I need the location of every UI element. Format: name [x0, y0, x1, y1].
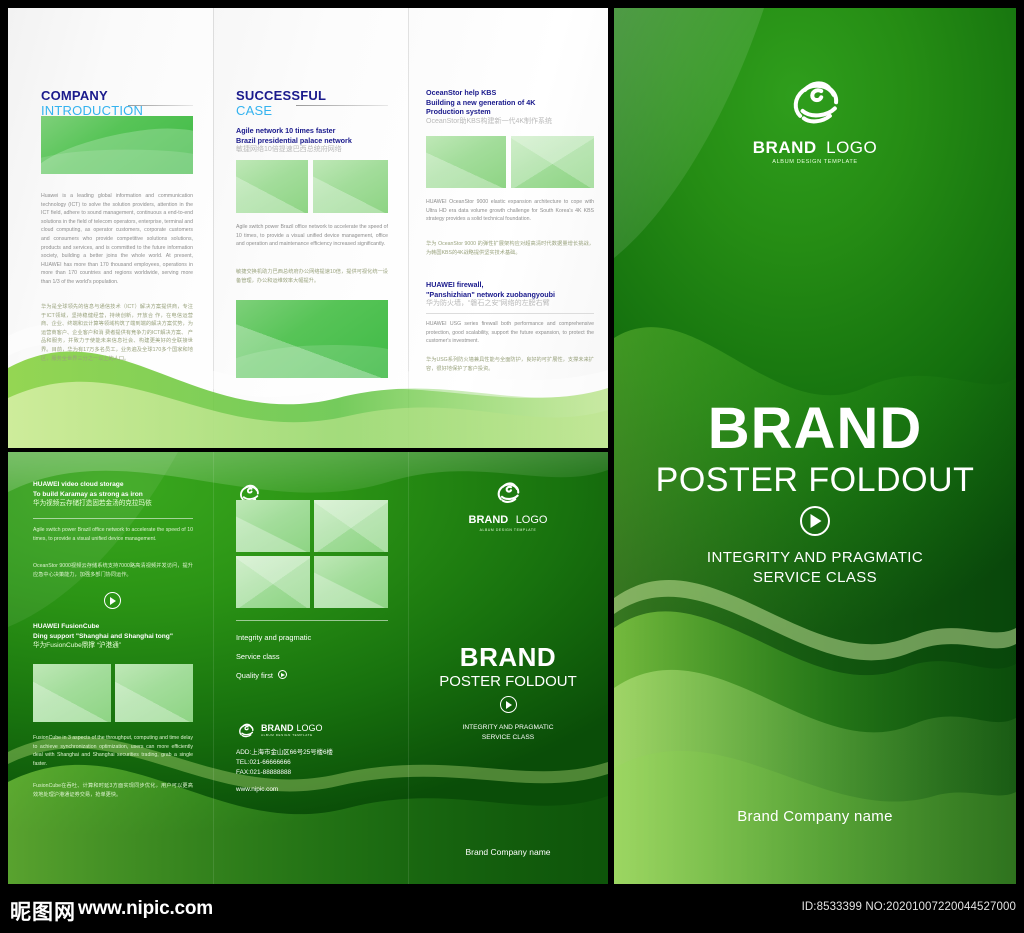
play-button-video-cloud[interactable]	[104, 592, 121, 614]
oceanstor-title-en-3: Production system	[426, 107, 596, 117]
fold-c-company-name: Brand Company name	[408, 847, 608, 857]
asset-id-code: ID:8533399 NO:20201007220044527000	[802, 901, 1016, 913]
values-divider	[236, 620, 388, 621]
header-rule	[296, 105, 388, 106]
fold-divider	[213, 452, 214, 884]
play-icon	[500, 696, 517, 713]
oceanstor-title-group: OceanStor help KBS Building a new genera…	[426, 88, 596, 127]
case-header: SUCCESSFUL CASE	[236, 88, 326, 118]
case-title-cn: 敏捷网络10倍提速巴西总统府网络	[236, 145, 388, 155]
oceanstor-title-en-1: OceanStor help KBS	[426, 88, 596, 98]
value-item-2: Service class	[236, 647, 311, 666]
fold-b-image-4	[314, 556, 388, 608]
company-header: COMPANY INTRODUCTION	[41, 88, 143, 118]
cover-logo: BRAND LOGO ALBUM DESIGN TEMPLATE	[614, 70, 1016, 165]
oceanstor-body-en: HUAWEI OceanStor 9000 elastic expansion …	[426, 198, 594, 224]
fusioncube-body-en: FusionCube in 3 aspects of the throughpu…	[33, 734, 193, 768]
contact-logo: BRAND LOGO ALBUM DESIGN TEMPLATE	[236, 720, 323, 740]
fold-c-tagline-2: SERVICE CLASS	[408, 733, 608, 743]
fusioncube-title-en-2: Ding support "Shanghai and Shanghai tong…	[33, 632, 198, 642]
cover-logo-word: LOGO	[826, 138, 877, 157]
case-image-left	[236, 160, 308, 213]
oceanstor-title-cn: OceanStor助KBS构建新一代4K制作系统	[426, 117, 596, 127]
fold-divider	[213, 8, 214, 448]
cover-title-poster: POSTER FOLDOUT	[614, 460, 1016, 500]
play-icon	[104, 592, 121, 609]
firewall-body-cn: 华为USG系列防火墙兼具性能与全面防护，良好的可扩展性，支撑未来扩容，很好地保护…	[426, 356, 594, 373]
contact-fax: FAX:021-88888888	[236, 768, 333, 778]
fold-c-tagline-1: INTEGRITY AND PRAGMATIC	[408, 723, 608, 733]
fold-c-title-brand: BRAND	[408, 642, 608, 672]
contact-brand-text: BRAND	[261, 723, 294, 733]
fusioncube-title-cn: 华为FusionCube鼎撑 “沪港通”	[33, 641, 198, 651]
fold-b-image-3	[236, 556, 310, 608]
video-cloud-title-en-1: HUAWEI video cloud storage	[33, 480, 193, 490]
values-list: Integrity and pragmatic Service class Qu…	[236, 628, 311, 685]
watermark-url: www.nipic.com	[78, 898, 213, 920]
value-item-3: Quality first	[236, 666, 311, 685]
video-cloud-title-en-2: To build Karamay as strong as iron	[33, 490, 193, 500]
case-title-en-2: Brazil presidential palace network	[236, 136, 388, 146]
fold-b-image-2	[314, 500, 388, 552]
case-title-en-1: Agile network 10 times faster	[236, 126, 388, 136]
fusioncube-image-right	[115, 664, 193, 722]
top-fold-oceanstor	[408, 8, 608, 448]
case-title-group: Agile network 10 times faster Brazil pre…	[236, 126, 388, 155]
case-body-cn: 敏捷交换机助力巴西总统府办公网络提速10倍，提供可视化统一设备管理，办公和运维效…	[236, 268, 388, 285]
fusioncube-body-cn: FusionCube在吞吐、计算和时延3方面实现同步优化，用户可以更高效地处理沪…	[33, 782, 193, 799]
case-image-bottom	[236, 300, 388, 378]
footer-bar: 昵图网 www.nipic.com ID:8533399 NO:20201007…	[0, 884, 1024, 933]
video-cloud-title-cn: 华为视频云存储打造固若金汤的克拉玛依	[33, 499, 193, 509]
case-image-right	[313, 160, 388, 213]
play-icon[interactable]	[278, 670, 287, 679]
firewall-title-en-2: "Panshizhian" network zuobangyoubi	[426, 290, 596, 300]
watermark-cn: 昵图网	[10, 896, 76, 926]
fusioncube-image-left	[33, 664, 111, 722]
fold-c-logo: BRAND LOGO ALBUM DESIGN TEMPLATE	[408, 477, 608, 532]
contact-website[interactable]: www.nipic.com	[236, 785, 333, 795]
firewall-title-cn: 华为防火墙，“磐石之安”网络的左膀右臂	[426, 299, 596, 309]
cover-title-brand: BRAND	[614, 398, 1016, 460]
firewall-title-en-1: HUAWEI firewall,	[426, 280, 596, 290]
cover-logo-tagline: ALBUM DESIGN TEMPLATE	[614, 159, 1016, 165]
cover-panel: BRAND LOGO ALBUM DESIGN TEMPLATE BRAND P…	[614, 8, 1016, 884]
header-rule	[128, 105, 193, 106]
company-header-main: COMPANY	[41, 88, 143, 103]
video-cloud-body-en: Agile switch power Brazil office network…	[33, 526, 193, 543]
value-item-1: Integrity and pragmatic	[236, 628, 311, 647]
fold-c-brand-text: BRAND	[469, 514, 509, 526]
swirl-globe-logo-icon	[236, 720, 256, 740]
bottom-trifold-panel: HUAWEI video cloud storage To build Kara…	[8, 452, 608, 884]
oceanstor-title-en-2: Building a new generation of 4K	[426, 98, 596, 108]
firewall-body-en: HUAWEI USG series firewall both performa…	[426, 320, 594, 346]
fold-c-logo-tagline: ALBUM DESIGN TEMPLATE	[408, 528, 608, 532]
contact-logo-text: LOGO	[297, 723, 323, 733]
contact-details: ADD:上海市金山区66号25号楼6楼 TEL:021-66666666 FAX…	[236, 748, 333, 795]
fusioncube-title-group: HUAWEI FusionCube Ding support "Shanghai…	[33, 622, 198, 651]
company-hero-image	[41, 116, 193, 174]
cover-play-button[interactable]	[614, 506, 1016, 541]
contact-logo-tagline: ALBUM DESIGN TEMPLATE	[261, 733, 323, 737]
cover-logo-brand: BRAND	[753, 138, 817, 157]
swirl-globe-logo-icon	[784, 70, 846, 132]
cover-tagline-2: SERVICE CLASS	[614, 568, 1016, 588]
cover-tagline-1: INTEGRITY AND PRAGMATIC	[614, 548, 1016, 568]
video-cloud-body-cn: OceanStor 9000视频云存储系统支持7000路高清视频并发访问，提升应…	[33, 562, 193, 579]
contact-tel: TEL:021-66666666	[236, 758, 333, 768]
oceanstor-image-left	[426, 136, 506, 188]
fusioncube-title-en-1: HUAWEI FusionCube	[33, 622, 198, 632]
fold-b-image-1	[236, 500, 310, 552]
cover-title-block: BRAND POSTER FOLDOUT INTEGRITY AND PRAGM…	[614, 398, 1016, 588]
fold-c-title-poster: POSTER FOLDOUT	[408, 672, 608, 691]
company-body-cn: 华为是全球领先的信息与通信技术（ICT）解决方案提供商，专注于ICT领域，坚持稳…	[41, 303, 193, 363]
cover-company-name: Brand Company name	[614, 808, 1016, 825]
swirl-globe-logo-icon	[493, 477, 523, 507]
value-item-3-label: Quality first	[236, 671, 273, 680]
oceanstor-image-right	[511, 136, 594, 188]
oceanstor-body-cn: 华为 OceanStor 9000 的弹性扩展架构应对超高清时代数据量增长挑战，…	[426, 240, 594, 257]
play-icon	[800, 506, 830, 536]
case-body-en: Agile switch power Brazil office network…	[236, 223, 388, 249]
case-header-main: SUCCESSFUL	[236, 88, 326, 103]
firewall-divider	[426, 313, 594, 314]
company-body-en: Huawei is a leading global information a…	[41, 192, 193, 287]
fold-c-title-block: BRAND POSTER FOLDOUT INTEGRITY AND PRAGM…	[408, 642, 608, 743]
fold-divider	[408, 8, 409, 448]
fold-c-play-button[interactable]	[408, 696, 608, 718]
firewall-title-group: HUAWEI firewall, "Panshizhian" network z…	[426, 280, 596, 309]
poster-preview-canvas: COMPANY INTRODUCTION Huawei is a leading…	[0, 0, 1024, 933]
contact-address: ADD:上海市金山区66号25号楼6楼	[236, 748, 333, 758]
section-divider	[33, 518, 193, 519]
top-trifold-panel: COMPANY INTRODUCTION Huawei is a leading…	[8, 8, 608, 448]
fold-c-logo-text: LOGO	[516, 514, 548, 526]
video-cloud-title-group: HUAWEI video cloud storage To build Kara…	[33, 480, 193, 509]
